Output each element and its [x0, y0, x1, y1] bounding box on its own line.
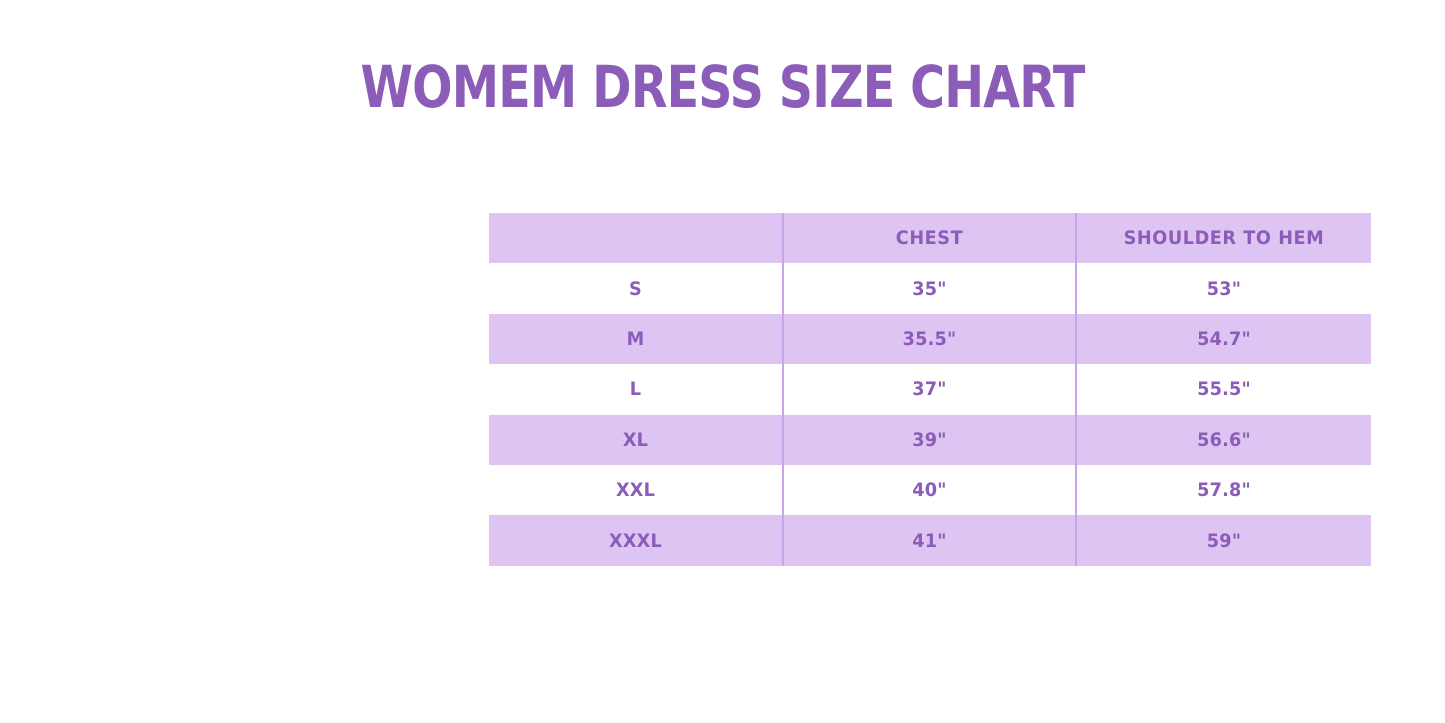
size-chart-table: CHEST SHOULDER TO HEM S 35" 53": [489, 213, 1371, 566]
cell-chest: 35.5": [783, 314, 1076, 364]
table-row: XL 39" 56.6": [489, 415, 1371, 465]
value-chest: 35.5": [794, 328, 1065, 350]
value-chest: 39": [794, 429, 1065, 451]
value-size: XL: [499, 429, 771, 451]
cell-size: S: [489, 263, 783, 313]
cell-shoulder-to-hem: 55.5": [1076, 364, 1371, 414]
cell-shoulder-to-hem: 59": [1076, 515, 1371, 565]
header-cell-chest: CHEST: [783, 213, 1076, 263]
page-title: WOMEM DRESS SIZE CHART: [130, 52, 1315, 122]
cell-size: L: [489, 364, 783, 414]
cell-size: XXL: [489, 465, 783, 515]
value-shoulder-to-hem: 57.8": [1087, 479, 1360, 501]
header-cell-size: [489, 213, 783, 263]
cell-chest: 37": [783, 364, 1076, 414]
cell-shoulder-to-hem: 53": [1076, 263, 1371, 313]
value-shoulder-to-hem: 54.7": [1087, 328, 1360, 350]
value-chest: 40": [794, 479, 1065, 501]
value-size: XXL: [499, 479, 771, 501]
value-shoulder-to-hem: 53": [1087, 278, 1360, 300]
cell-chest: 40": [783, 465, 1076, 515]
value-chest: 37": [794, 378, 1065, 400]
cell-chest: 35": [783, 263, 1076, 313]
cell-size: M: [489, 314, 783, 364]
value-size: S: [499, 278, 771, 300]
value-size: XXXL: [499, 530, 771, 552]
cell-shoulder-to-hem: 56.6": [1076, 415, 1371, 465]
cell-shoulder-to-hem: 57.8": [1076, 465, 1371, 515]
value-shoulder-to-hem: 55.5": [1087, 378, 1360, 400]
table-row: XXL 40" 57.8": [489, 465, 1371, 515]
cell-size: XXXL: [489, 515, 783, 565]
header-cell-shoulder-to-hem: SHOULDER TO HEM: [1076, 213, 1371, 263]
table-row: M 35.5" 54.7": [489, 314, 1371, 364]
header-label-chest: CHEST: [794, 227, 1065, 249]
header-label-shoulder-to-hem: SHOULDER TO HEM: [1087, 227, 1360, 249]
table-row: S 35" 53": [489, 263, 1371, 313]
cell-size: XL: [489, 415, 783, 465]
value-chest: 35": [794, 278, 1065, 300]
table-row: L 37" 55.5": [489, 364, 1371, 414]
cell-chest: 39": [783, 415, 1076, 465]
value-chest: 41": [794, 530, 1065, 552]
value-shoulder-to-hem: 59": [1087, 530, 1360, 552]
cell-shoulder-to-hem: 54.7": [1076, 314, 1371, 364]
value-shoulder-to-hem: 56.6": [1087, 429, 1360, 451]
value-size: L: [499, 378, 771, 400]
table-body: S 35" 53" M 35.5" 54.7": [489, 263, 1371, 565]
table-row: XXXL 41" 59": [489, 515, 1371, 565]
table-header-row: CHEST SHOULDER TO HEM: [489, 213, 1371, 263]
value-size: M: [499, 328, 771, 350]
size-chart-page: WOMEM DRESS SIZE CHART CHEST SHOULDER TO…: [0, 0, 1445, 723]
cell-chest: 41": [783, 515, 1076, 565]
